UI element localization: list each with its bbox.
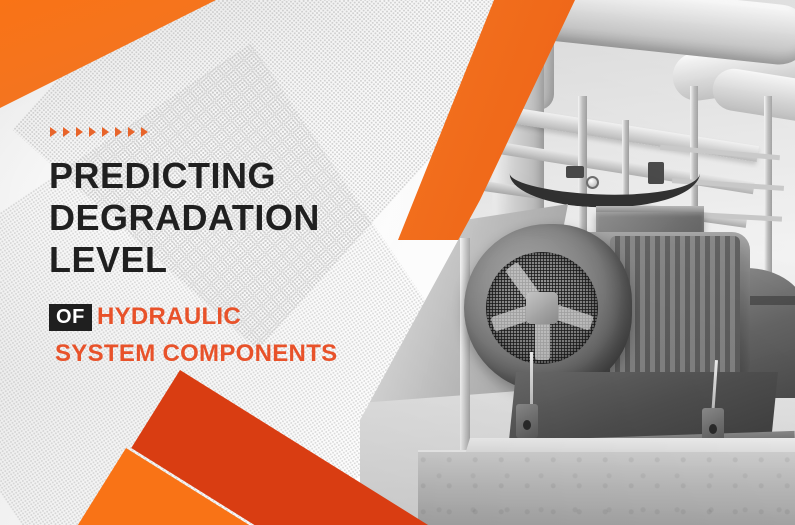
headline-line-3: LEVEL	[49, 239, 409, 281]
triangle-right-icon	[115, 127, 122, 137]
triangle-right-icon	[89, 127, 96, 137]
triangle-right-icon	[141, 127, 148, 137]
arrow-marker-row	[50, 127, 148, 137]
triangle-right-icon	[63, 127, 70, 137]
subtitle-row-1: OF HYDRAULIC	[49, 303, 337, 331]
headline-block: PREDICTING DEGRADATION LEVEL	[49, 155, 409, 281]
triangle-right-icon	[76, 127, 83, 137]
diagonal-band-deep-orange	[131, 370, 795, 525]
headline-line-1: PREDICTING	[49, 155, 409, 197]
triangle-right-icon	[50, 127, 57, 137]
pressure-gauge	[586, 176, 599, 189]
fan-hub	[526, 292, 558, 324]
triangle-right-icon	[128, 127, 135, 137]
poster-canvas: ➡	[0, 0, 795, 525]
subtitle-block: OF HYDRAULIC SYSTEM COMPONENTS	[49, 303, 337, 368]
subtitle-line-1: HYDRAULIC	[97, 303, 241, 331]
subtitle-line-2: SYSTEM COMPONENTS	[55, 340, 337, 368]
pipe-clamp-1	[566, 166, 584, 178]
subtitle-row-2: SYSTEM COMPONENTS	[49, 340, 337, 368]
triangle-right-icon	[102, 127, 109, 137]
headline-line-2: DEGRADATION	[49, 197, 409, 239]
pipe-clamp-2	[648, 162, 664, 184]
of-badge: OF	[49, 304, 92, 331]
